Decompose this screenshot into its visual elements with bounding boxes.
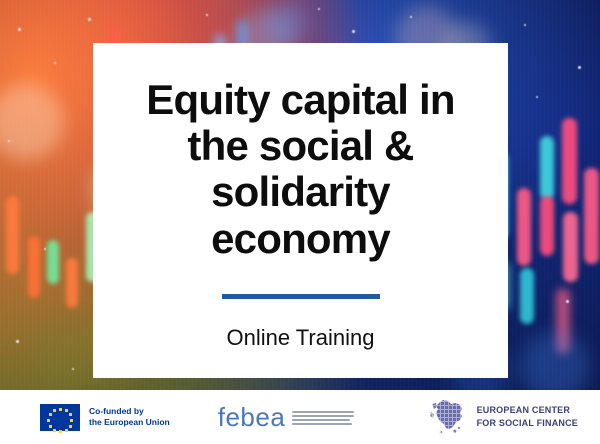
ecsf-logo-text: EUROPEAN CENTER FOR SOCIAL FINANCE xyxy=(477,404,578,429)
eu-logo-text: Co-funded by the European Union xyxy=(89,406,170,429)
subtitle: Online Training xyxy=(227,325,375,351)
title-divider xyxy=(222,294,380,299)
title-card: Equity capital in the social & solidarit… xyxy=(93,43,508,378)
febea-wordmark: febea xyxy=(218,404,286,430)
ecsf-logo-line2: FOR SOCIAL FINANCE xyxy=(477,417,578,430)
eu-flag-icon xyxy=(40,404,80,431)
eu-cofunded-logo: Co-funded by the European Union xyxy=(40,404,170,431)
eu-logo-line2: the European Union xyxy=(89,417,170,428)
febea-microtext xyxy=(292,409,354,426)
europe-map-icon xyxy=(429,398,469,436)
footer-logo-bar: Co-funded by the European Union febea xyxy=(0,390,600,444)
febea-logo: febea xyxy=(218,404,355,430)
european-center-for-social-finance-logo: EUROPEAN CENTER FOR SOCIAL FINANCE xyxy=(429,398,578,436)
ecsf-logo-line1: EUROPEAN CENTER xyxy=(477,404,578,417)
eu-logo-line1: Co-funded by xyxy=(89,406,170,417)
page-title: Equity capital in the social & solidarit… xyxy=(119,77,482,262)
